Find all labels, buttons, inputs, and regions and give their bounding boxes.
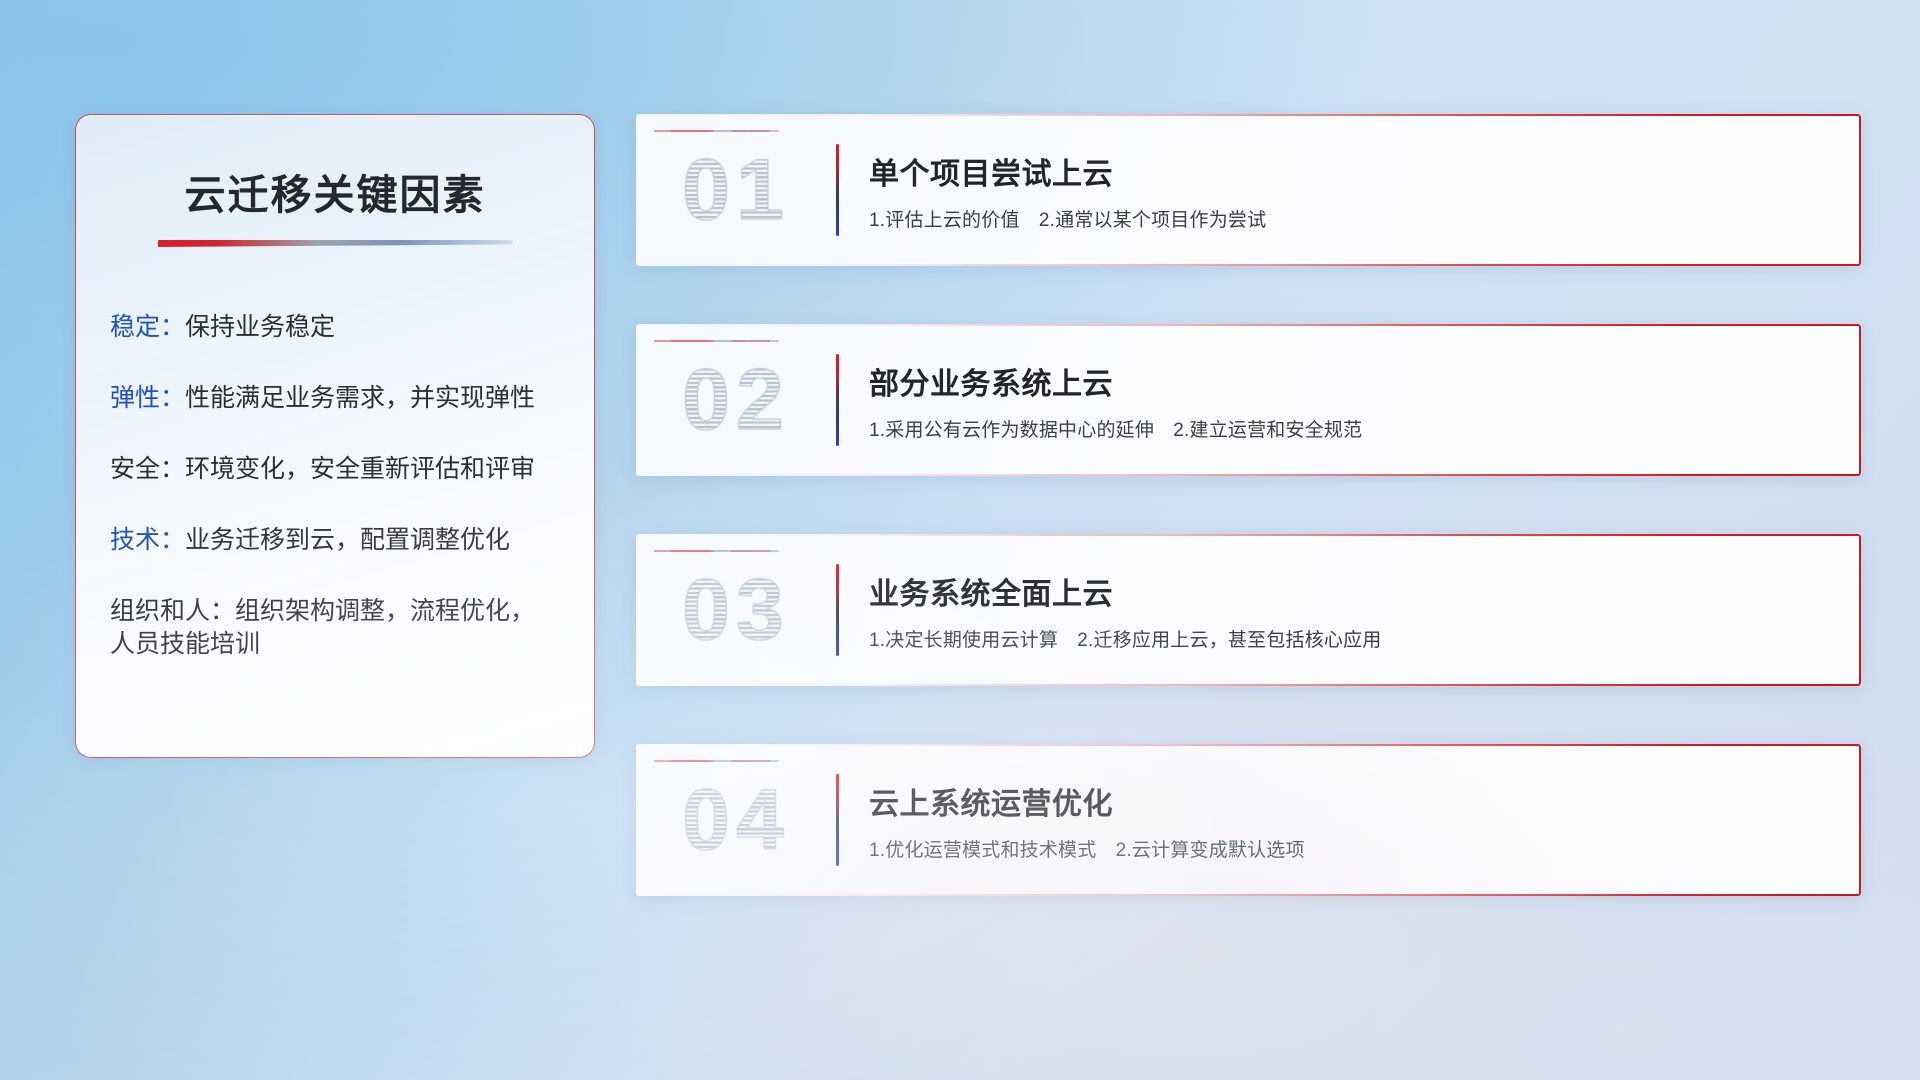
page-title: 云迁移关键因素 xyxy=(76,161,594,221)
list-item-label: 安全： xyxy=(110,455,185,483)
list-item: 安全：环境变化，安全重新评估和评审 xyxy=(110,453,566,486)
stage-number-01: 01 xyxy=(636,114,836,266)
list-item-label: 技术： xyxy=(110,526,185,554)
stage-card-subtitle: 1.决定长期使用云计算 2.迁移应用上云，甚至包括核心应用 xyxy=(869,625,1839,652)
list-item: 弹性：性能满足业务需求，并实现弹性 xyxy=(110,382,566,415)
stage-number-04: 04 xyxy=(636,744,836,896)
stage-card-body: 单个项目尝试上云 1.评估上云的价值 2.通常以某个项目作为尝试 xyxy=(839,149,1861,232)
stage-card-title: 部分业务系统上云 xyxy=(869,359,1839,403)
list-item: 技术：业务迁移到云，配置调整优化 xyxy=(110,524,566,557)
migration-stage-cards: 01 单个项目尝试上云 1.评估上云的价值 2.通常以某个项目作为尝试 02 部… xyxy=(636,114,1861,896)
title-underline-accent xyxy=(158,240,513,247)
stage-number-02: 02 xyxy=(636,324,836,476)
key-factors-panel: 云迁移关键因素 稳定：保持业务稳定 弹性：性能满足业务需求，并实现弹性 安全：环… xyxy=(75,114,595,758)
stage-number-03: 03 xyxy=(636,534,836,686)
list-item: 稳定：保持业务稳定 xyxy=(110,311,566,344)
list-item-label: 弹性： xyxy=(110,384,185,412)
list-item: 组织和人：组织架构调整，流程优化， 人员技能培训 xyxy=(110,595,566,661)
stage-card-02[interactable]: 02 部分业务系统上云 1.采用公有云作为数据中心的延伸 2.建立运营和安全规范 xyxy=(636,324,1861,476)
stage-card-subtitle: 1.采用公有云作为数据中心的延伸 2.建立运营和安全规范 xyxy=(869,415,1839,442)
stage-card-body: 云上系统运营优化 1.优化运营模式和技术模式 2.云计算变成默认选项 xyxy=(839,779,1861,862)
list-item-text: 保持业务稳定 xyxy=(185,313,335,341)
stage-card-title: 业务系统全面上云 xyxy=(869,569,1839,613)
stage-card-subtitle: 1.评估上云的价值 2.通常以某个项目作为尝试 xyxy=(869,205,1839,232)
stage-card-04[interactable]: 04 云上系统运营优化 1.优化运营模式和技术模式 2.云计算变成默认选项 xyxy=(636,744,1861,896)
stage-card-title: 单个项目尝试上云 xyxy=(869,149,1839,193)
stage-card-01[interactable]: 01 单个项目尝试上云 1.评估上云的价值 2.通常以某个项目作为尝试 xyxy=(636,114,1861,266)
list-item-text: 性能满足业务需求，并实现弹性 xyxy=(185,384,535,412)
list-item-text: 业务迁移到云，配置调整优化 xyxy=(185,526,510,554)
stage-card-body: 部分业务系统上云 1.采用公有云作为数据中心的延伸 2.建立运营和安全规范 xyxy=(839,359,1861,442)
stage-card-03[interactable]: 03 业务系统全面上云 1.决定长期使用云计算 2.迁移应用上云，甚至包括核心应… xyxy=(636,534,1861,686)
slide-canvas: 云迁移关键因素 稳定：保持业务稳定 弹性：性能满足业务需求，并实现弹性 安全：环… xyxy=(0,0,1920,1080)
list-item-text: 环境变化，安全重新评估和评审 xyxy=(185,455,535,483)
list-item-label: 组织和人： xyxy=(110,597,235,625)
stage-card-title: 云上系统运营优化 xyxy=(869,779,1839,823)
key-factors-list: 稳定：保持业务稳定 弹性：性能满足业务需求，并实现弹性 安全：环境变化，安全重新… xyxy=(76,311,594,661)
stage-card-body: 业务系统全面上云 1.决定长期使用云计算 2.迁移应用上云，甚至包括核心应用 xyxy=(839,569,1861,652)
stage-card-subtitle: 1.优化运营模式和技术模式 2.云计算变成默认选项 xyxy=(869,835,1839,862)
list-item-label: 稳定： xyxy=(110,313,185,341)
